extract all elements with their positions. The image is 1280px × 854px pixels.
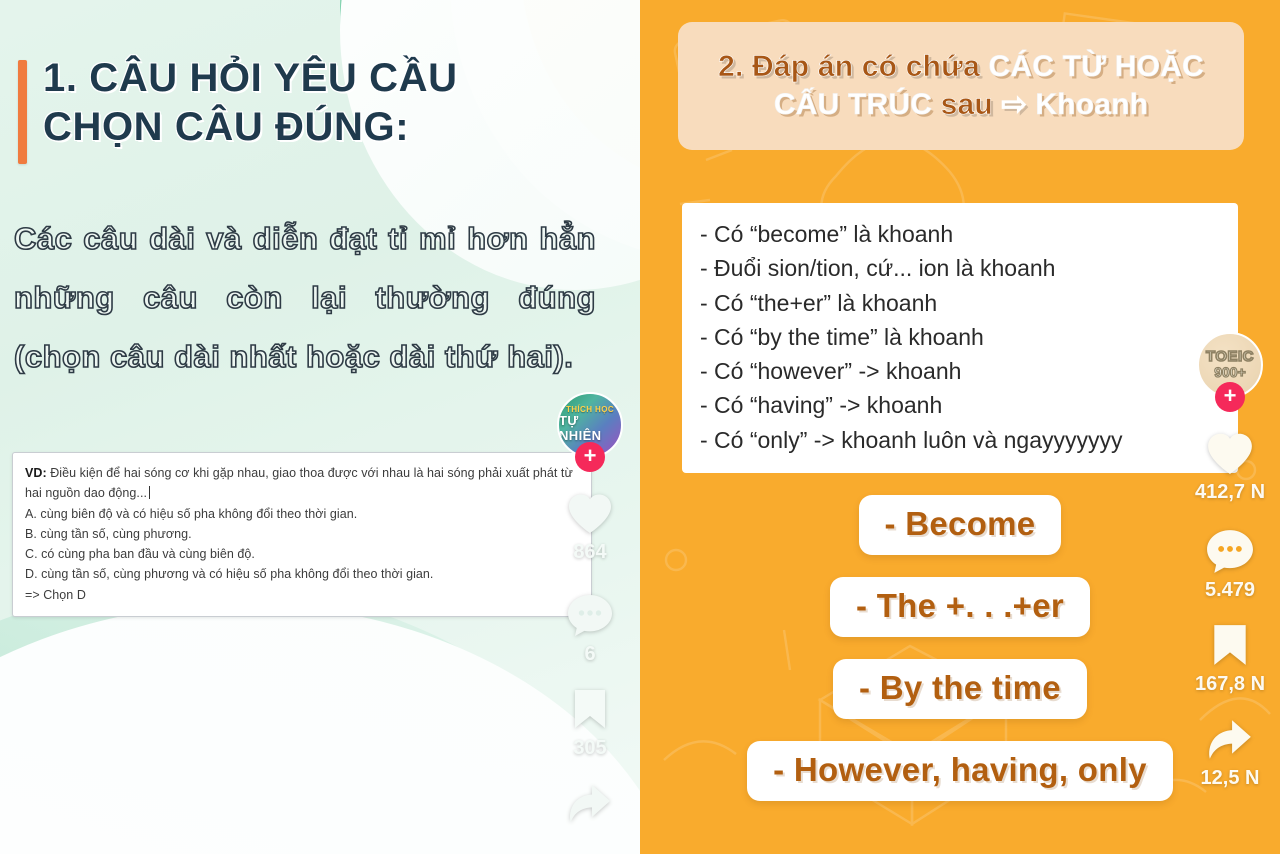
avatar-line-2: 900+ [1214,365,1246,380]
keyword-chip: - Become [859,495,1062,555]
bookmark-icon[interactable] [564,684,616,734]
avatar-line-2: TỰ NHIÊN [559,414,621,444]
share-arrow-icon[interactable] [564,778,616,828]
bookmark-metric[interactable]: 305 [564,684,616,760]
keyword-chip-list: - Become - The +. . .+er - By the time -… [640,495,1280,823]
follow-button[interactable]: + [1215,382,1245,412]
follow-button[interactable]: + [575,442,605,472]
rule-item: - Đuổi sion/tion, cứ... ion là khoanh [700,251,1220,285]
example-stem-text: Điều kiện để hai sóng cơ khi gặp nhau, g… [25,466,573,500]
comment-metric[interactable]: 6 [564,590,616,666]
decor-green-swoosh-bottom [0,584,640,854]
like-count: 412,7 N [1195,481,1265,504]
right-header-banner: 2. Đáp án có chứa CÁC TỪ HOẶC CẤU TRÚC s… [678,22,1244,150]
right-avatar-group[interactable]: TOEIC 900+ + [1197,332,1263,412]
left-page-title: 1. CÂU HỎI YÊU CẦU CHỌN CÂU ĐÚNG: [43,54,458,152]
keyword-chip-label: - The +. . .+er [856,587,1064,624]
decor-yellow-swoosh-top [520,0,640,190]
header-seg-2: CÁC TỪ HOẶC [989,50,1204,83]
comment-icon[interactable] [564,590,616,640]
header-seg-3: CẤU TRÚC [774,88,941,121]
left-video-panel[interactable]: 1. CÂU HỎI YÊU CẦU CHỌN CÂU ĐÚNG: Các câ… [0,0,640,854]
example-option-c: C. có cùng pha ban đầu và cùng biên độ. [25,544,579,564]
left-avatar-group[interactable]: THÍCH HỌC TỰ NHIÊN + [557,392,623,472]
header-seg-1: 2. Đáp án có chứa [718,50,988,83]
left-body-text: Các câu dài và diễn đạt tỉ mỉ hơn hẳn nh… [14,210,596,387]
chip-row: - Become [640,495,1280,555]
keyword-chip-label: - By the time [859,669,1061,706]
right-header-line-1: 2. Đáp án có chứa CÁC TỪ HOẶC [718,48,1204,86]
like-metric[interactable]: 412,7 N [1195,428,1265,504]
example-option-b: B. cùng tần số, cùng phương. [25,524,579,544]
share-metric[interactable] [564,778,616,828]
example-answer: => Chọn D [25,585,579,605]
rule-item: - Có “the+er” là khoanh [700,286,1220,320]
share-count: 12,5 N [1201,767,1260,790]
rule-item: - Có “by the time” là khoanh [700,320,1220,354]
example-question-card: VD: Điều kiện để hai sóng cơ khi gặp nha… [12,452,592,617]
like-metric[interactable]: 864 [564,488,616,564]
bookmark-metric[interactable]: 167,8 N [1195,620,1265,696]
keyword-chip-label: - However, having, only [773,751,1147,788]
rule-item: - Có “become” là khoanh [700,217,1220,251]
right-header-line-2: CẤU TRÚC sau ⇨ Khoanh [774,86,1148,124]
decor-white-swoosh-bottom [0,604,640,854]
right-video-panel[interactable]: 2. Đáp án có chứa CÁC TỪ HOẶC CẤU TRÚC s… [640,0,1280,854]
rule-item: - Có “however” -> khoanh [700,354,1220,388]
comment-count: 6 [584,643,595,666]
bookmark-icon[interactable] [1204,620,1256,670]
left-title-line-1: 1. CÂU HỎI YÊU CẦU [43,54,458,103]
left-title-line-2: CHỌN CÂU ĐÚNG: [43,103,458,152]
bookmark-count: 305 [573,737,606,760]
share-metric[interactable]: 12,5 N [1201,714,1260,790]
left-title-block: 1. CÂU HỎI YÊU CẦU CHỌN CÂU ĐÚNG: [18,54,458,164]
comment-count: 5.479 [1205,579,1255,602]
example-option-d: D. cùng tần số, cùng phương và có hiệu s… [25,564,579,584]
keyword-chip: - However, having, only [747,741,1173,801]
header-seg-4: sau ⇨ [941,88,1036,121]
chip-row: - The +. . .+er [640,577,1280,637]
rules-list-box: - Có “become” là khoanh - Đuổi sion/tion… [682,203,1238,473]
rule-item: - Có “only” -> khoanh luôn và ngayyyyyyy [700,423,1220,457]
share-arrow-icon[interactable] [1204,714,1256,764]
example-option-a: A. cùng biên độ và có hiệu số pha không … [25,504,579,524]
header-seg-5: Khoanh [1035,88,1148,121]
example-stem: VD: Điều kiện để hai sóng cơ khi gặp nha… [25,463,579,504]
left-social-rail: THÍCH HỌC TỰ NHIÊN + 864 6 [548,392,632,846]
keyword-chip: - The +. . .+er [830,577,1090,637]
keyword-chip: - By the time [833,659,1087,719]
title-accent-bar [18,60,27,164]
right-social-rail: TOEIC 900+ + 412,7 N 5.479 [1188,332,1272,808]
bookmark-count: 167,8 N [1195,673,1265,696]
text-caret [149,486,150,499]
chip-row: - However, having, only [640,741,1280,801]
split-video-screenshot: 1. CÂU HỎI YÊU CẦU CHỌN CÂU ĐÚNG: Các câ… [0,0,1280,854]
chip-row: - By the time [640,659,1280,719]
heart-icon[interactable] [564,488,616,538]
rule-item: - Có “having” -> khoanh [700,388,1220,422]
comment-icon[interactable] [1204,526,1256,576]
left-body-paragraph: Các câu dài và diễn đạt tỉ mỉ hơn hẳn nh… [14,210,596,387]
comment-metric[interactable]: 5.479 [1204,526,1256,602]
keyword-chip-label: - Become [885,505,1036,542]
heart-icon[interactable] [1204,428,1256,478]
avatar-line-1: TOEIC [1206,349,1254,365]
like-count: 864 [573,541,606,564]
example-label: VD: [25,466,47,480]
